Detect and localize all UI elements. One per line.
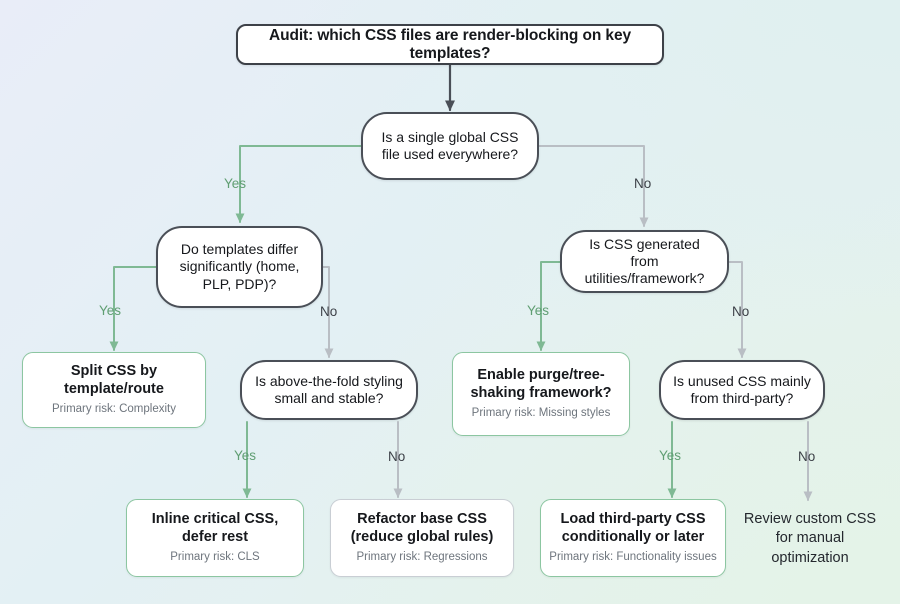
edge-label-d2-no: No	[320, 305, 337, 319]
flowchart-canvas: Audit: which CSS files are render-blocki…	[0, 0, 900, 604]
node-decision-templates-differ-label: Do templates differ significantly (home,…	[170, 241, 309, 292]
node-decision-unused-css-third-party-label: Is unused CSS mainly from third-party?	[673, 373, 811, 407]
node-start[interactable]: Audit: which CSS files are render-blocki…	[236, 24, 664, 65]
node-decision-above-the-fold[interactable]: Is above-the-fold styling small and stab…	[240, 360, 418, 420]
edge-label-d3-yes: Yes	[527, 304, 549, 318]
node-outcome-review-custom-css: Review custom CSS for manual optimizatio…	[740, 505, 880, 573]
node-outcome-load-third-party-css-title: Load third-party CSS conditionally or la…	[549, 511, 717, 546]
node-outcome-split-css-risk: Primary risk: Complexity	[52, 403, 176, 417]
node-decision-single-global-css-label: Is a single global CSS file used everywh…	[375, 129, 525, 163]
node-decision-unused-css-third-party[interactable]: Is unused CSS mainly from third-party?	[659, 360, 825, 420]
node-outcome-refactor-base-css[interactable]: Refactor base CSS (reduce global rules) …	[330, 499, 514, 577]
node-outcome-review-custom-css-label: Review custom CSS for manual optimizatio…	[740, 510, 880, 569]
node-outcome-inline-critical-css-title: Inline critical CSS, defer rest	[135, 511, 295, 546]
node-decision-templates-differ[interactable]: Do templates differ significantly (home,…	[156, 226, 323, 308]
node-outcome-inline-critical-css-risk: Primary risk: CLS	[170, 551, 259, 565]
edge-label-d3-no: No	[732, 305, 749, 319]
node-outcome-enable-purge[interactable]: Enable purge/tree-shaking framework? Pri…	[452, 352, 630, 436]
edge-label-d1-no: No	[634, 177, 651, 191]
edge-label-d2-yes: Yes	[99, 304, 121, 318]
node-outcome-load-third-party-css-risk: Primary risk: Functionality issues	[549, 551, 716, 565]
node-outcome-split-css[interactable]: Split CSS by template/route Primary risk…	[22, 352, 206, 428]
node-decision-css-generated-label: Is CSS generated from utilities/framewor…	[574, 236, 715, 287]
node-decision-above-the-fold-label: Is above-the-fold styling small and stab…	[254, 373, 404, 407]
edge-label-d1-yes: Yes	[224, 177, 246, 191]
node-outcome-refactor-base-css-title: Refactor base CSS (reduce global rules)	[339, 511, 505, 546]
edge-label-d4-no: No	[388, 450, 405, 464]
node-decision-single-global-css[interactable]: Is a single global CSS file used everywh…	[361, 112, 539, 180]
node-start-label: Audit: which CSS files are render-blocki…	[238, 27, 662, 63]
node-decision-css-generated[interactable]: Is CSS generated from utilities/framewor…	[560, 230, 729, 293]
node-outcome-load-third-party-css[interactable]: Load third-party CSS conditionally or la…	[540, 499, 726, 577]
edge-label-d4-yes: Yes	[234, 449, 256, 463]
node-outcome-refactor-base-css-risk: Primary risk: Regressions	[357, 551, 488, 565]
edge-d1-yes-to-d2	[240, 146, 361, 222]
edge-label-d5-no: No	[798, 450, 815, 464]
node-outcome-enable-purge-risk: Primary risk: Missing styles	[472, 407, 611, 421]
node-outcome-inline-critical-css[interactable]: Inline critical CSS, defer rest Primary …	[126, 499, 304, 577]
node-outcome-enable-purge-title: Enable purge/tree-shaking framework?	[461, 367, 621, 402]
edge-label-d5-yes: Yes	[659, 449, 681, 463]
edge-d1-no-to-d3	[539, 146, 644, 226]
node-outcome-split-css-title: Split CSS by template/route	[31, 363, 197, 398]
